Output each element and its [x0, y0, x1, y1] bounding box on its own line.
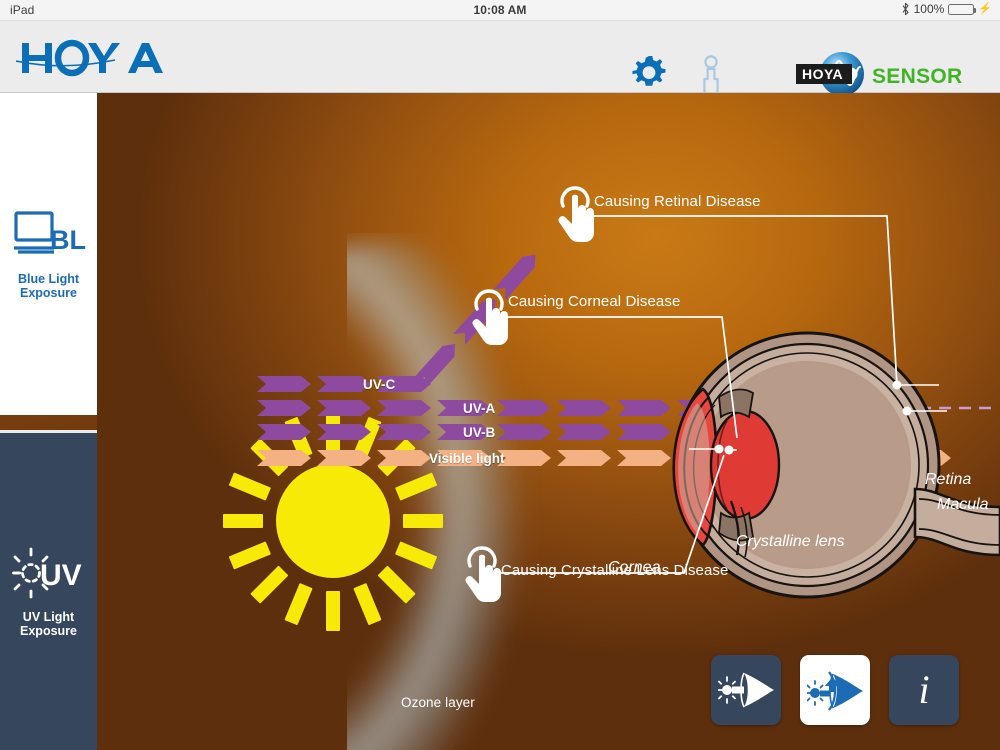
- sidebar-item-uv-light[interactable]: UV UV Light Exposure: [0, 430, 97, 750]
- sensor-device-icon[interactable]: [696, 53, 726, 95]
- hotspot-corneal-disease[interactable]: [469, 285, 511, 352]
- ray-label-uv-a: UV-A: [463, 401, 495, 416]
- bl-label-line2: Exposure: [20, 286, 77, 300]
- eye-label-crystalline-lens: Crystalline lens: [736, 533, 844, 551]
- eye-label-macula: Macula: [937, 496, 989, 514]
- sun-eye-shield-icon: [807, 668, 863, 712]
- view-mode-protected-button[interactable]: [800, 655, 870, 725]
- status-right-group: 100% ⚡: [901, 2, 992, 16]
- battery-percent-label: 100%: [914, 2, 945, 16]
- tap-hand-icon: [469, 285, 511, 347]
- ray-label-uv-b: UV-B: [463, 425, 495, 440]
- sun-icon: [221, 409, 445, 633]
- sidebar-item-blue-light-label: Blue Light Exposure: [18, 272, 79, 300]
- view-mode-toolbar: i: [711, 655, 959, 725]
- sun-uv-icon: UV: [12, 546, 86, 602]
- sidebar-item-uv-light-label: UV Light Exposure: [20, 610, 77, 638]
- uv-label-line1: UV Light: [23, 610, 74, 624]
- app-root: iPad 10:08 AM 100% ⚡: [0, 0, 1000, 750]
- battery-full-icon: [948, 4, 974, 15]
- diagram-stage: Ozone layer: [97, 93, 1000, 750]
- svg-text:BL: BL: [50, 225, 86, 255]
- app-header: HOYA SENSOR: [0, 21, 1000, 93]
- ios-status-bar: iPad 10:08 AM 100% ⚡: [0, 0, 1000, 21]
- ray-label-uv-c: UV-C: [363, 377, 395, 392]
- bluetooth-icon: [901, 2, 910, 16]
- hoya-sensor-product-logo: HOYA SENSOR: [794, 51, 964, 97]
- ozone-layer-label: Ozone layer: [401, 695, 475, 710]
- laptop-bl-icon: BL: [12, 208, 86, 264]
- hotspot-crystalline-lens-disease-label[interactable]: Causing Crystalline Lens Disease: [501, 562, 728, 579]
- info-button[interactable]: i: [889, 655, 959, 725]
- status-clock: 10:08 AM: [0, 3, 1000, 17]
- bl-label-line1: Blue Light: [18, 272, 79, 286]
- tap-hand-icon: [462, 542, 504, 604]
- view-mode-unprotected-button[interactable]: [711, 655, 781, 725]
- hoya-brand-logo: [16, 37, 216, 79]
- hotspot-retinal-disease[interactable]: [555, 182, 597, 249]
- hotspot-corneal-disease-label[interactable]: Causing Corneal Disease: [508, 293, 680, 310]
- hotspot-crystalline-lens-disease[interactable]: [462, 542, 504, 609]
- svg-text:HOYA: HOYA: [802, 66, 843, 82]
- gear-icon[interactable]: [628, 53, 670, 95]
- sun-eye-icon: [718, 668, 774, 712]
- svg-text:SENSOR: SENSOR: [872, 65, 963, 88]
- eye-label-retina: Retina: [925, 471, 971, 489]
- svg-text:UV: UV: [40, 559, 82, 592]
- info-italic-i-icon: i: [918, 670, 929, 710]
- hotspot-retinal-disease-label[interactable]: Causing Retinal Disease: [594, 193, 761, 210]
- tap-hand-icon: [555, 182, 597, 244]
- sidebar-item-blue-light[interactable]: BL Blue Light Exposure: [0, 93, 97, 415]
- lightning-bolt-icon: ⚡: [978, 4, 992, 15]
- uv-label-line2: Exposure: [20, 624, 77, 638]
